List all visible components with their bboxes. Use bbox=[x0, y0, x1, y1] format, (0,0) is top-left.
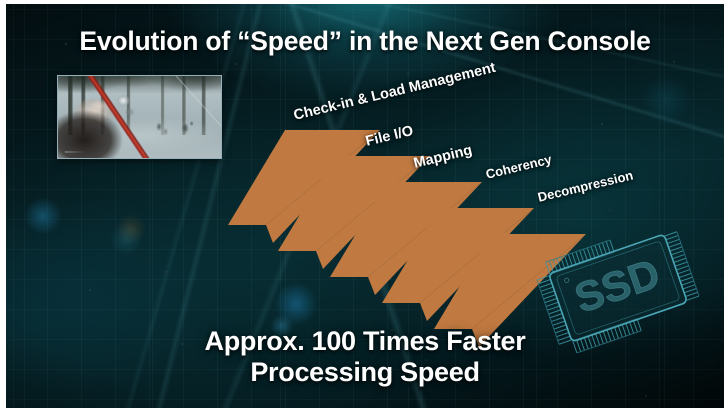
slide-canvas: Evolution of “Speed” in the Next Gen Con… bbox=[6, 4, 724, 408]
headline-line-2: Processing Speed bbox=[6, 357, 724, 388]
bottom-headline: Approx. 100 Times Faster Processing Spee… bbox=[6, 326, 724, 389]
slide-frame: Evolution of “Speed” in the Next Gen Con… bbox=[0, 0, 728, 417]
headline-line-1: Approx. 100 Times Faster bbox=[6, 326, 724, 357]
